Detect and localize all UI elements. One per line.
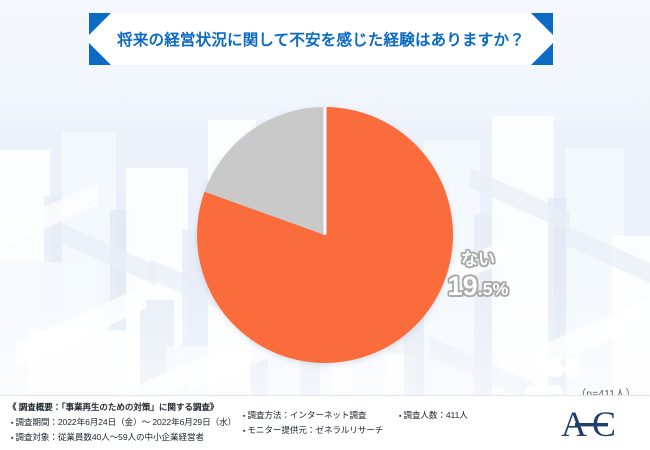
page-title: 将来の経営状況に関して不安を感じた経験はありますか？ [89,13,553,65]
footer-overview-item: 調査期間：2022年6月24日（金）～ 2022年6月29日（水） [8,416,236,428]
pie-label-nai: ない 19.5% [413,251,543,300]
pie-slices [197,107,453,363]
pie-label-nai-name: ない [413,251,543,268]
footer-column-count: 調査人数：411人 [399,409,468,424]
footer-monitor-item: モニター提供元：ゼネラルリサーチ [243,424,383,436]
footer-count-item: 調査人数：411人 [399,409,468,421]
footer-method-item: 調査方法：インターネット調査 [243,409,383,421]
pie-chart: ない 19.5% ある 80.5% [197,107,453,363]
footer-column-method: 調査方法：インターネット調査 モニター提供元：ゼネラルリサーチ [243,409,383,438]
pie-label-nai-value: 19.5% [413,273,543,300]
pie-label-aru-name: ある [488,359,638,378]
footer-overview-heading: 《 調査概要：「事業再生のための対策」に関する調査》 [8,401,236,413]
footer-divider [0,395,650,396]
footer-column-overview: 《 調査概要：「事業再生のための対策」に関する調査》 調査期間：2022年6月2… [8,401,236,445]
logo-connector-bar [575,423,608,426]
title-banner: 将来の経営状況に関して不安を感じた経験はありますか？ [89,13,553,65]
screenshot-root: 将来の経営状況に関して不安を感じた経験はありますか？ ない 19.5% ある 8… [0,0,650,450]
footer-overview-item: 調査対象：従業員数40人～59人の中小企業経営者 [8,431,236,443]
pie-label-nai-dec: .5% [478,279,509,299]
pie-label-nai-int: 19 [448,271,478,301]
footer: 《 調査概要：「事業再生のための対策」に関する調査》 調査期間：2022年6月2… [0,395,650,450]
aac-logo: A C [560,404,634,444]
